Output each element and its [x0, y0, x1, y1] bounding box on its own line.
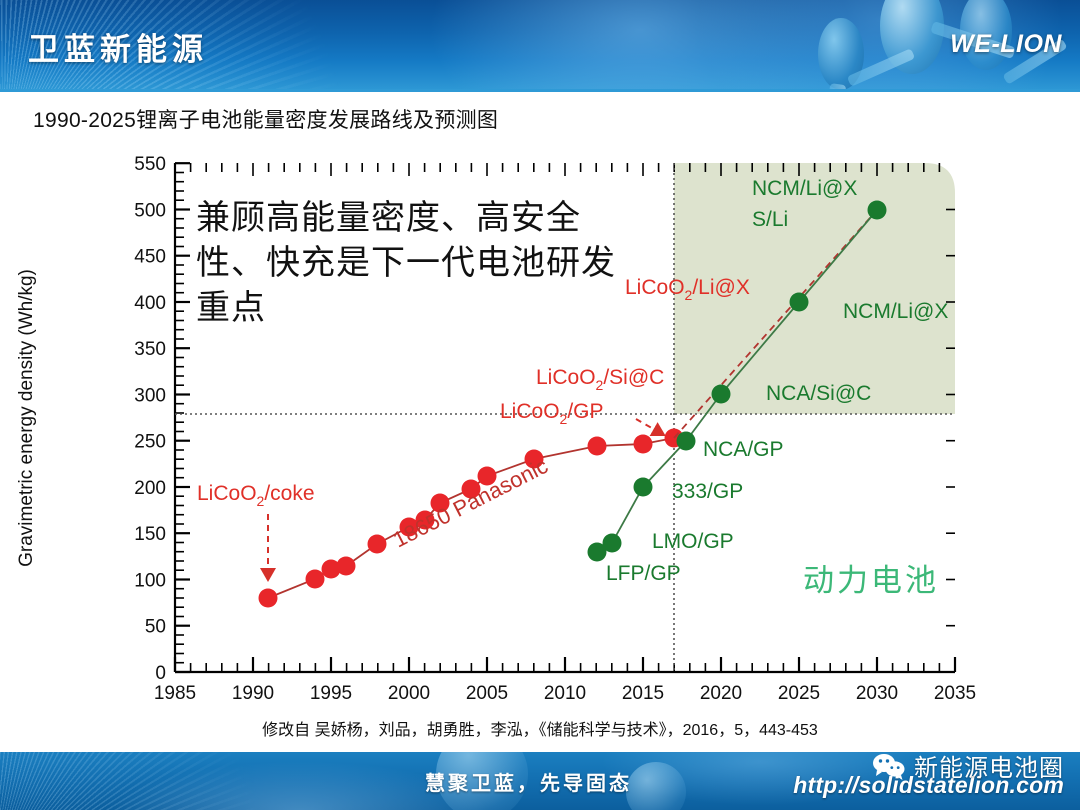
- label-lmo-gp: LMO/GP: [652, 530, 734, 553]
- svg-text:1995: 1995: [310, 683, 352, 704]
- x-axis-ticks: 1985 1990 1995 2000 2005 2010 2015 2020 …: [154, 657, 976, 704]
- citation-text: 修改自 吴娇杨，刘品，胡勇胜，李泓，《储能科学与技术》，2016，5，443-4…: [0, 716, 1080, 740]
- y-axis-ticks: 0 50 100 150 200 250 300 350 400 450: [134, 154, 190, 684]
- molecule-bond-icon: [847, 48, 915, 87]
- header-underline: [0, 89, 1080, 92]
- svg-text:2000: 2000: [388, 683, 430, 704]
- svg-text:250: 250: [134, 432, 166, 453]
- svg-text:2030: 2030: [856, 683, 898, 704]
- label-s-li: S/Li: [752, 208, 788, 231]
- footer-bubble-decoration: [626, 762, 686, 810]
- label-ncm-lix-2025: NCM/Li@X: [843, 300, 948, 323]
- label-nca-gp: NCA/GP: [703, 438, 784, 461]
- svg-text:2005: 2005: [466, 683, 508, 704]
- svg-text:500: 500: [134, 201, 166, 222]
- svg-text:100: 100: [134, 571, 166, 592]
- label-licoo2-gp: LiCoO2/GP: [500, 400, 664, 435]
- label-nca-sic: NCA/Si@C: [766, 382, 871, 405]
- page-title: 1990-2025锂离子电池能量密度发展路线及预测图: [33, 104, 933, 134]
- slide-root: 卫蓝新能源 WE-LION 1990-2025锂离子电池能量密度发展路线及预测图…: [0, 0, 1080, 810]
- svg-text:550: 550: [134, 154, 166, 175]
- svg-text:2010: 2010: [544, 683, 586, 704]
- label-licoo2-coke: LiCoO2/coke: [197, 482, 315, 580]
- svg-text:2015: 2015: [622, 683, 664, 704]
- svg-text:2020: 2020: [700, 683, 742, 704]
- wechat-badge: 新能源电池圈: [872, 748, 1064, 783]
- chart-annotation-cn: 兼顾高能量密度、高安全性、快充是下一代电池研发重点: [196, 196, 616, 331]
- svg-text:450: 450: [134, 247, 166, 268]
- svg-text:1985: 1985: [154, 683, 196, 704]
- label-18650-panasonic: 18650 Panasonic: [389, 453, 552, 552]
- svg-text:1990: 1990: [232, 683, 274, 704]
- svg-text:2025: 2025: [778, 683, 820, 704]
- svg-text:150: 150: [134, 524, 166, 545]
- footer-sweep-decoration: [0, 752, 360, 810]
- label-licoo2-sic: LiCoO2/Si@C: [536, 366, 664, 393]
- svg-text:0: 0: [155, 663, 166, 684]
- svg-text:300: 300: [134, 386, 166, 407]
- brand-logo-en: WE-LION: [950, 30, 1062, 59]
- label-ncm-lix-2030: NCM/Li@X: [752, 177, 857, 200]
- wechat-name: 新能源电池圈: [914, 748, 1064, 783]
- svg-text:350: 350: [134, 339, 166, 360]
- label-lfp-gp: LFP/GP: [606, 562, 681, 585]
- region-label-power-battery: 动力电池: [803, 555, 939, 600]
- label-333-gp: 333/GP: [672, 480, 743, 503]
- svg-text:2035: 2035: [934, 683, 976, 704]
- brand-logo-cn: 卫蓝新能源: [28, 24, 208, 69]
- svg-text:LiCoO2/coke: LiCoO2/coke: [197, 482, 315, 509]
- svg-text:200: 200: [134, 478, 166, 499]
- page-header: 卫蓝新能源 WE-LION: [0, 0, 1080, 92]
- y-axis-title: Gravimetric energy density (Wh/kg): [16, 269, 37, 567]
- svg-text:400: 400: [134, 293, 166, 314]
- y-axis-minor-ticks: [175, 173, 184, 663]
- svg-text:50: 50: [145, 617, 166, 638]
- svg-text:LiCoO2/GP: LiCoO2/GP: [500, 400, 604, 427]
- footer-slogan: 慧聚卫蓝，先导固态: [425, 767, 632, 796]
- wechat-icon: [872, 752, 906, 780]
